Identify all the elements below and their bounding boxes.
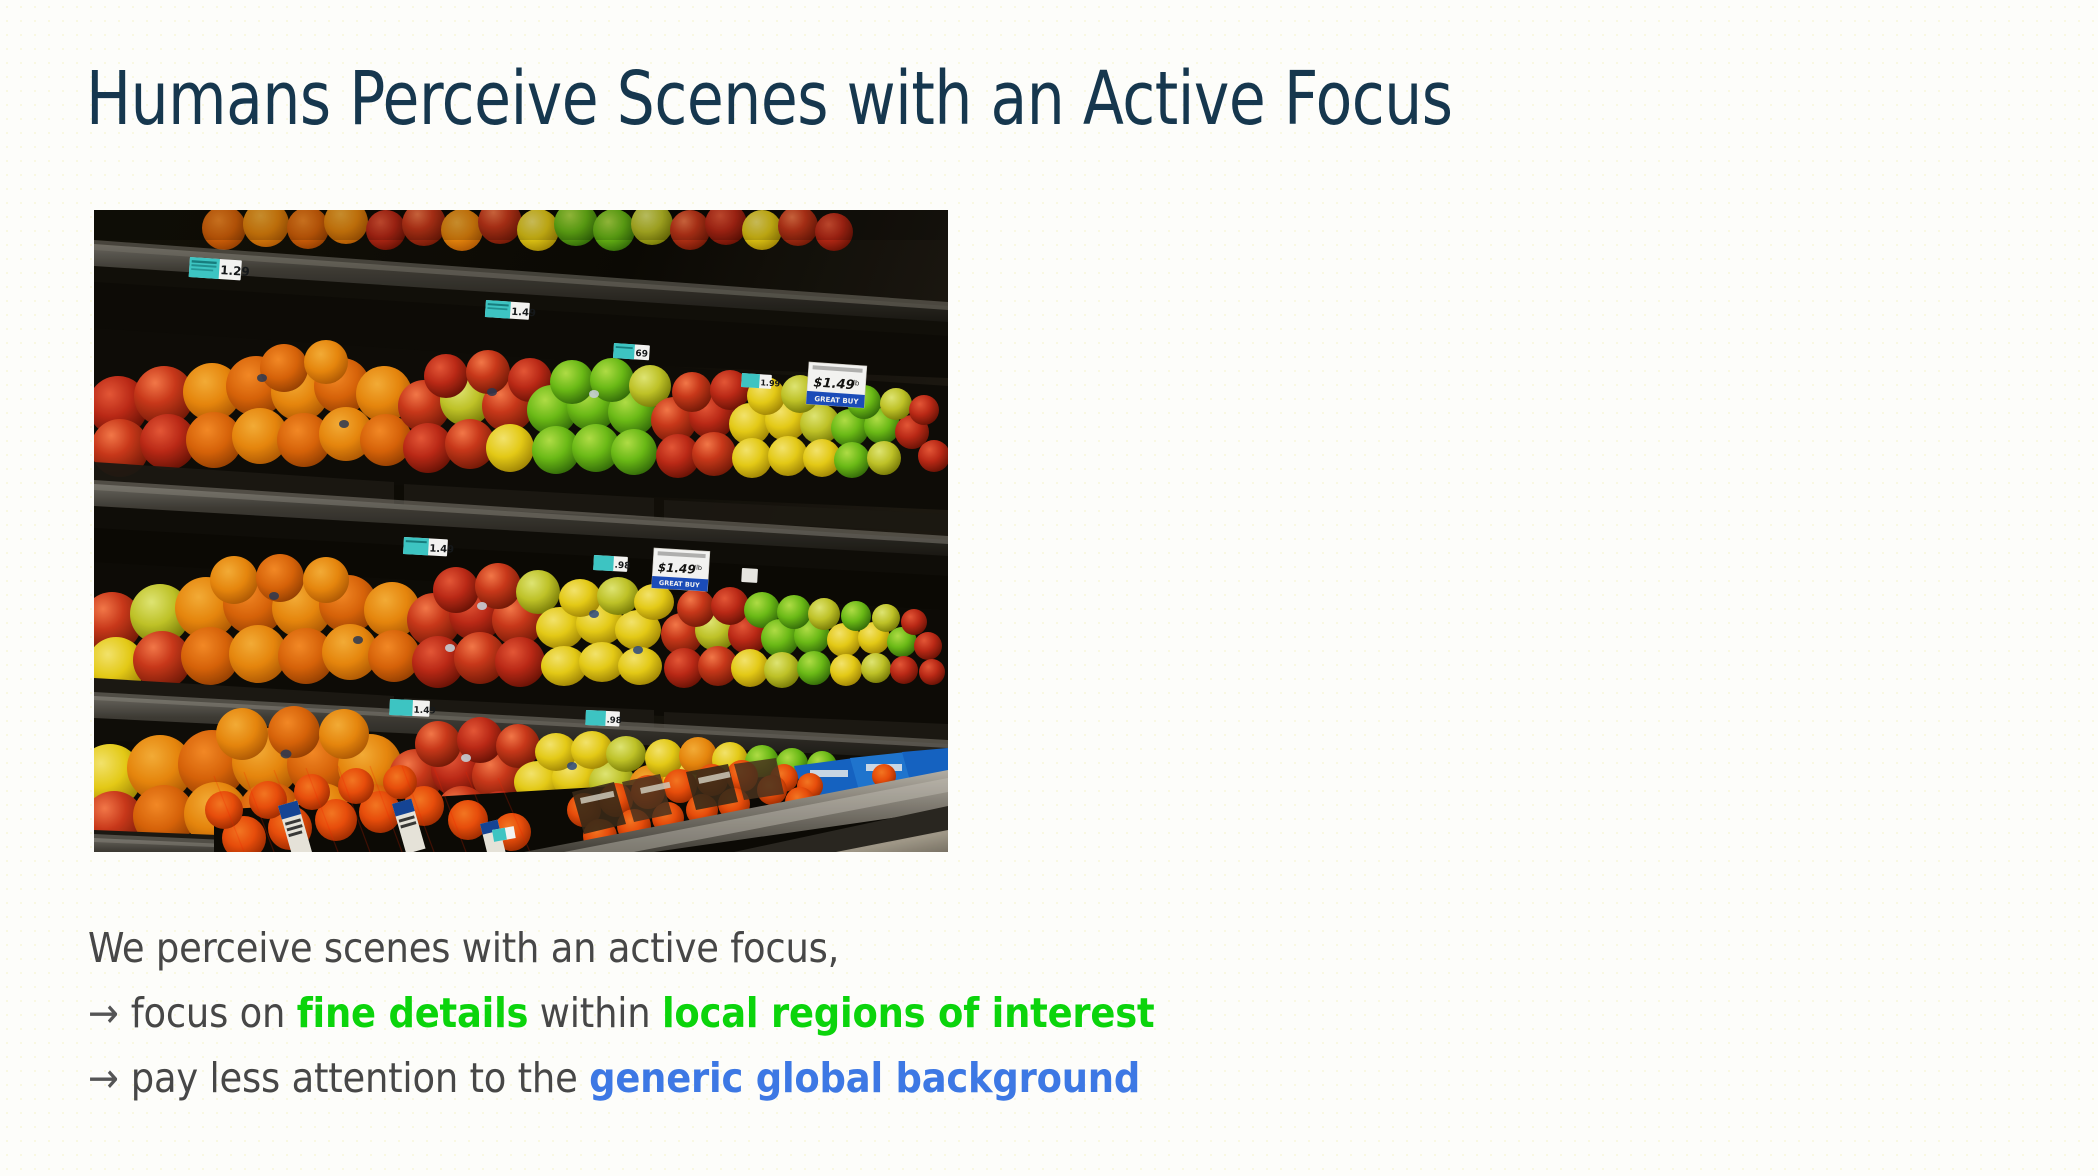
body-line-2-seg-1: focus on [131, 989, 297, 1037]
page-title: Humans Perceive Scenes with an Active Fo… [86, 62, 1453, 136]
slide-canvas: Humans Perceive Scenes with an Active Fo… [0, 0, 2098, 1176]
highlight-fine-details: fine details [297, 989, 529, 1037]
body-text-block: We perceive scenes with an active focus,… [88, 916, 1388, 1111]
highlight-local-regions-of-interest: local regions of interest [662, 989, 1154, 1037]
body-line-1: We perceive scenes with an active focus, [88, 916, 1388, 981]
grocery-produce-shelves-photo: 1.29 1.49 69 [94, 210, 948, 852]
produce-shelf-illustration: 1.29 1.49 69 [94, 210, 948, 852]
body-line-2: →focus on fine details within local regi… [88, 981, 1388, 1046]
arrow-right-icon: → [88, 981, 119, 1046]
body-line-3: →pay less attention to the generic globa… [88, 1046, 1388, 1111]
body-line-2-seg-3: within [528, 989, 662, 1037]
body-line-1-text: We perceive scenes with an active focus, [88, 924, 839, 972]
highlight-generic-global-background: generic global background [589, 1054, 1140, 1102]
body-line-3-seg-1: pay less attention to the [131, 1054, 589, 1102]
arrow-right-icon-2: → [88, 1046, 119, 1111]
